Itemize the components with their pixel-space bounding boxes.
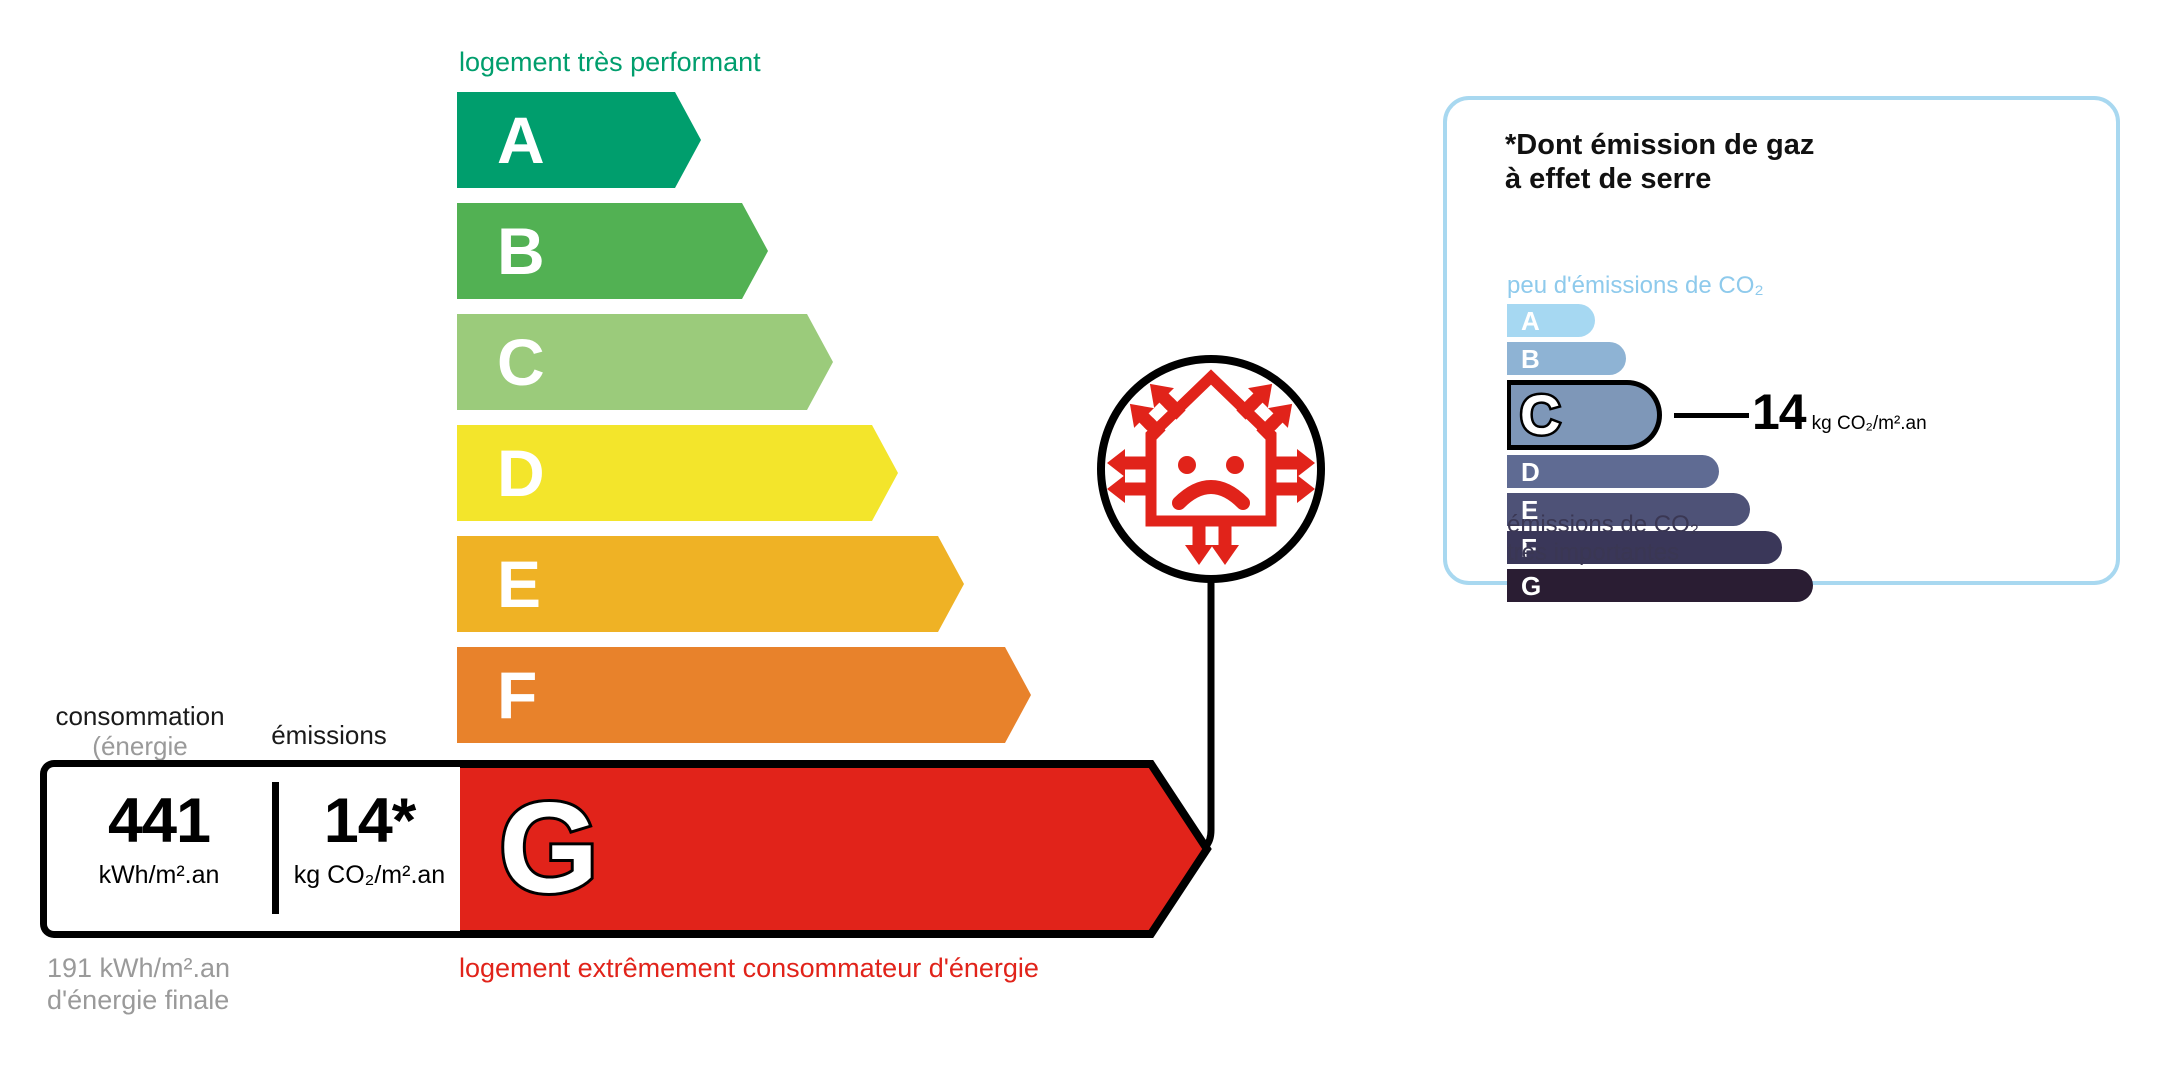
ladder-bottom-caption: logement extrêmement consommateur d'éner… <box>459 953 1039 984</box>
final-energy-line2: d'énergie finale <box>47 984 230 1016</box>
co2-card-title-line1: *Dont émission de gaz <box>1505 128 1814 162</box>
co2-leader-line <box>1674 413 1749 418</box>
co2-value: 14 <box>1752 384 1806 440</box>
co2-top-caption: peu d'émissions de CO₂ <box>1507 272 1764 300</box>
co2-bar-g: G <box>1507 569 1813 602</box>
emission-value: 14* <box>279 784 460 860</box>
energy-band-letter: C <box>497 329 545 395</box>
ladder-top-caption: logement très performant <box>459 47 761 78</box>
result-grade-letter: G <box>499 785 599 913</box>
consumption-label-line1: consommation <box>47 702 233 732</box>
energy-performance-ladder: logement très performant ABCDEF logement… <box>0 0 1320 1079</box>
result-values-divider <box>272 782 279 914</box>
co2-unit: kg CO₂/m².an <box>1812 413 1927 434</box>
co2-bar-d: D <box>1507 455 1719 488</box>
emissions-label: émissions <box>239 720 419 751</box>
emission-value-cell: 14* kg CO₂/m².an <box>279 784 460 889</box>
energy-band-e: E <box>457 536 964 632</box>
energy-band-c: C <box>457 314 833 410</box>
sad-house-energy-loss-icon <box>1095 353 1327 585</box>
co2-bar-letter: B <box>1521 346 1540 372</box>
co2-emissions-card: *Dont émission de gaz à effet de serre p… <box>1443 96 2120 585</box>
energy-band-f: F <box>457 647 1031 743</box>
energy-band-letter: D <box>497 440 545 506</box>
co2-bottom-caption: émissions de CO₂ très importantes <box>1507 511 1699 568</box>
co2-bar-letter: G <box>1521 573 1541 599</box>
co2-bar-letter: C <box>1520 387 1560 443</box>
consumption-value-cell: 441 kWh/m².an <box>46 784 272 889</box>
co2-bar-letter: D <box>1521 459 1540 485</box>
energy-band-letter: F <box>497 662 537 728</box>
co2-bar-c: C <box>1507 380 1662 450</box>
energy-band-a: A <box>457 92 701 188</box>
energy-band-b: B <box>457 203 768 299</box>
emission-unit: kg CO₂/m².an <box>279 862 460 890</box>
co2-bottom-caption-line1: émissions de CO₂ <box>1507 511 1699 539</box>
co2-bar-b: B <box>1507 342 1626 375</box>
energy-band-letter: E <box>497 551 541 617</box>
co2-value-readout: 14kg CO₂/m².an <box>1752 383 1927 441</box>
result-band-g: G <box>451 760 1261 938</box>
co2-bar-list: ABC14kg CO₂/m².anDEFG <box>1507 304 2067 509</box>
final-energy-note: 191 kWh/m².an d'énergie finale <box>47 952 230 1017</box>
energy-band-d: D <box>457 425 898 521</box>
energy-band-letter: B <box>497 218 545 284</box>
energy-band-letter: A <box>497 107 545 173</box>
co2-bar-a: A <box>1507 304 1595 337</box>
co2-card-title-line2: à effet de serre <box>1505 162 1814 196</box>
consumption-value: 441 <box>46 784 272 860</box>
co2-bar-letter: A <box>1521 308 1540 334</box>
co2-bottom-caption-line2: très importantes <box>1507 539 1699 567</box>
co2-card-title: *Dont émission de gaz à effet de serre <box>1505 128 1814 196</box>
final-energy-line1: 191 kWh/m².an <box>47 952 230 984</box>
consumption-unit: kWh/m².an <box>46 862 272 890</box>
